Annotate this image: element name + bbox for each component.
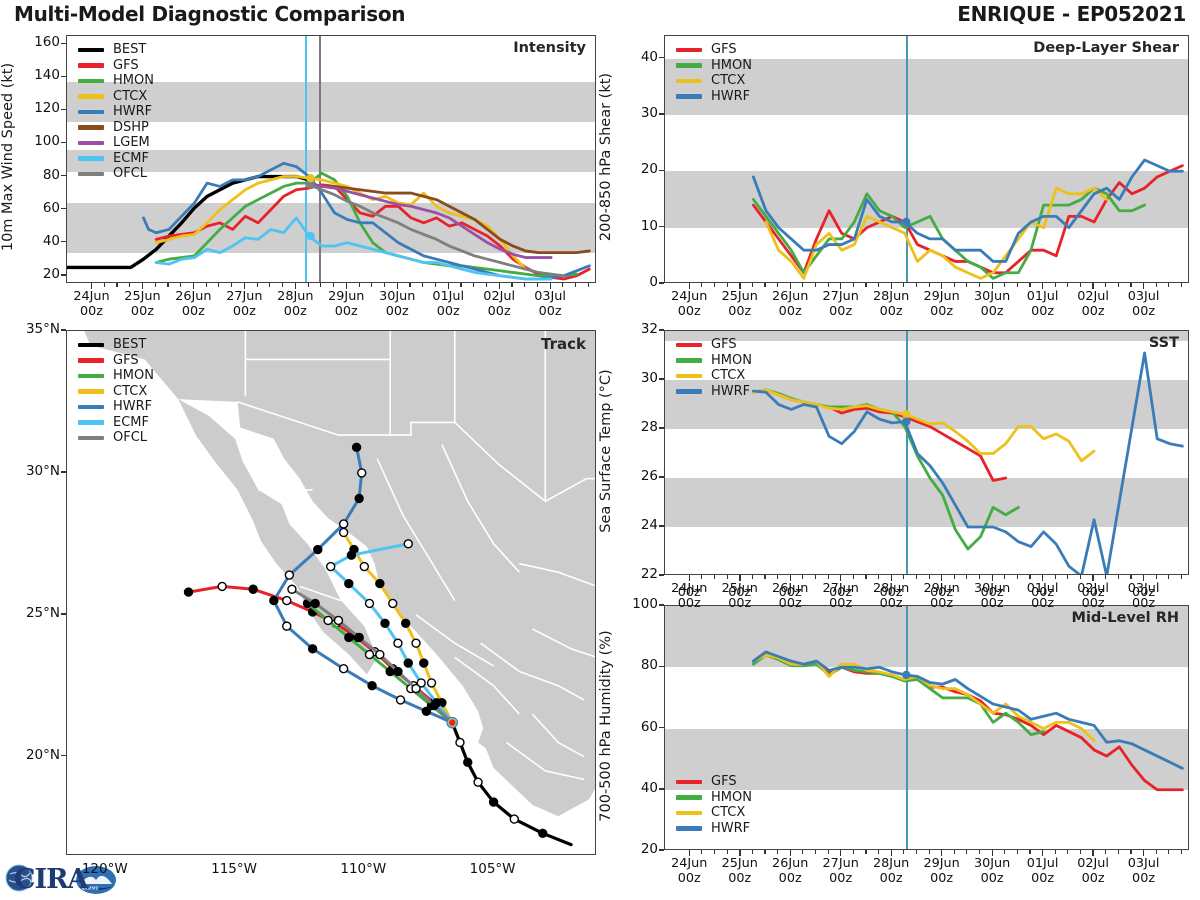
y-tick-mark <box>659 525 664 526</box>
x-tick-mark <box>142 283 143 289</box>
y-tick-label: 30 <box>612 370 658 386</box>
legend-swatch-best-icon <box>78 343 104 348</box>
legend-track: BESTGFSHMONCTCXHWRFECMFOFCL <box>78 337 154 446</box>
legend-item-hmon: HMON <box>78 73 154 89</box>
legend-swatch-hmon-icon <box>676 795 702 800</box>
legend-swatch-ecmf-icon <box>78 420 104 425</box>
panel-title-sst: SST <box>969 335 1179 351</box>
legend-label: BEST <box>113 338 146 351</box>
y-tick-label: 20 <box>14 266 60 282</box>
x-tick-mark <box>739 283 740 289</box>
track-position-marker <box>474 778 482 786</box>
legend-swatch-ctcx-icon <box>78 389 104 394</box>
x-minor-tick <box>1029 575 1030 579</box>
track-position-marker <box>394 668 402 676</box>
x-tick-hour: 00z <box>131 304 154 319</box>
legend-label: CTCX <box>113 90 147 103</box>
x-tick-hour: 00z <box>437 304 460 319</box>
legend-item-best: BEST <box>78 337 154 353</box>
analysis-marker-ctcx <box>902 410 910 418</box>
lat-tick-label: 20°N <box>4 747 60 763</box>
legend-rh: GFSHMONCTCXHWRF <box>676 774 752 836</box>
series-line-hwrf <box>753 652 1182 768</box>
x-tick-date: 01Jul <box>1027 289 1059 304</box>
x-minor-tick <box>929 575 930 579</box>
legend-label: HMON <box>711 59 752 72</box>
x-tick-hour: 00z <box>1082 871 1105 886</box>
x-minor-tick <box>979 283 980 287</box>
x-tick-mark <box>790 850 791 856</box>
track-position-marker <box>490 798 498 806</box>
track-position-marker <box>353 443 361 451</box>
legend-swatch-ofcl-icon <box>78 436 104 441</box>
legend-swatch-hwrf-icon <box>78 405 104 410</box>
track-position-marker <box>389 599 397 607</box>
track-position-marker <box>340 520 348 528</box>
y-tick-mark <box>61 43 66 44</box>
x-tick-hour: 00z <box>284 304 307 319</box>
x-minor-tick <box>929 850 930 854</box>
x-tick-mark <box>1092 575 1093 581</box>
x-tick-mark <box>891 283 892 289</box>
y-tick-label: 32 <box>612 321 658 337</box>
y-tick-label: 28 <box>612 419 658 435</box>
x-tick-mark <box>193 283 194 289</box>
x-minor-tick <box>1118 283 1119 287</box>
x-tick-hour: 00z <box>829 871 852 886</box>
x-tick-mark <box>840 283 841 289</box>
x-tick-hour: 00z <box>728 304 751 319</box>
x-minor-tick <box>1017 283 1018 287</box>
x-minor-tick <box>878 575 879 579</box>
x-minor-tick <box>1118 575 1119 579</box>
x-tick-mark <box>891 575 892 581</box>
x-tick-date: 26Jun <box>175 289 211 304</box>
series-line-gfs <box>753 652 1182 790</box>
x-minor-tick <box>1168 850 1169 854</box>
x-minor-tick <box>727 575 728 579</box>
track-position-marker <box>360 563 368 571</box>
x-tick-mark <box>840 575 841 581</box>
legend-item-hwrf: HWRF <box>78 399 154 415</box>
x-minor-tick <box>1055 575 1056 579</box>
x-minor-tick <box>1181 850 1182 854</box>
track-position-marker <box>464 758 472 766</box>
x-minor-tick <box>511 283 512 287</box>
legend-item-ctcx: CTCX <box>78 384 154 400</box>
legend-item-dshp: DSHP <box>78 120 154 136</box>
x-minor-tick <box>777 283 778 287</box>
x-minor-tick <box>903 575 904 579</box>
legend-item-lgem: LGEM <box>78 135 154 151</box>
x-minor-tick <box>764 575 765 579</box>
series-line-best <box>67 177 309 268</box>
x-tick-date: 27Jun <box>823 289 859 304</box>
x-tick-date: 01Jul <box>1027 856 1059 871</box>
x-minor-tick <box>865 283 866 287</box>
legend-swatch-hwrf-icon <box>676 389 702 394</box>
x-minor-tick <box>1017 850 1018 854</box>
y-tick-mark <box>61 142 66 143</box>
x-tick-hour: 00z <box>335 304 358 319</box>
x-minor-tick <box>727 283 728 287</box>
x-minor-tick <box>588 283 589 287</box>
legend-swatch-ofcl-icon <box>78 172 104 177</box>
x-minor-tick <box>1067 850 1068 854</box>
track-position-marker <box>412 639 420 647</box>
x-minor-tick <box>815 575 816 579</box>
series-line-gfs <box>753 166 1182 273</box>
x-tick-date: 26Jun <box>772 856 808 871</box>
y-tick-mark <box>659 849 664 850</box>
legend-swatch-hmon-icon <box>676 63 702 68</box>
x-minor-tick <box>116 283 117 287</box>
x-tick-mark <box>941 283 942 289</box>
x-tick-date: 29Jun <box>924 289 960 304</box>
y-tick-label: 0 <box>612 274 658 290</box>
x-minor-tick <box>815 283 816 287</box>
x-minor-tick <box>777 850 778 854</box>
legend-label: CTCX <box>711 74 745 87</box>
legend-label: HWRF <box>711 385 750 398</box>
x-tick-hour: 00z <box>182 304 205 319</box>
legend-label: ECMF <box>113 152 149 165</box>
x-tick-mark <box>992 575 993 581</box>
legend-label: HMON <box>113 369 154 382</box>
x-minor-tick <box>929 283 930 287</box>
legend-swatch-hwrf-icon <box>676 826 702 831</box>
x-tick-date: 03Jul <box>1128 856 1160 871</box>
x-tick-date: 30Jun <box>974 289 1010 304</box>
legend-swatch-lgem-icon <box>78 141 104 146</box>
legend-item-ctcx: CTCX <box>676 73 752 89</box>
lon-tick-label: 110°W <box>328 862 398 878</box>
legend-sst: GFSHMONCTCXHWRF <box>676 337 752 399</box>
track-position-marker <box>402 619 410 627</box>
legend-shear: GFSHMONCTCXHWRF <box>676 42 752 104</box>
x-minor-tick <box>1181 575 1182 579</box>
legend-label: HWRF <box>711 90 750 103</box>
legend-item-hmon: HMON <box>78 368 154 384</box>
legend-swatch-ctcx-icon <box>78 94 104 99</box>
y-tick-label: 100 <box>14 133 60 149</box>
legend-item-ofcl: OFCL <box>78 430 154 446</box>
y-tick-label: 40 <box>612 780 658 796</box>
legend-swatch-hmon-icon <box>78 79 104 84</box>
track-position-marker <box>456 738 464 746</box>
x-tick-date: 24Jun <box>671 289 707 304</box>
y-tick-label: 26 <box>612 468 658 484</box>
figure-root: Multi-Model Diagnostic Comparison ENRIQU… <box>0 0 1200 900</box>
track-position-marker <box>309 645 317 653</box>
x-minor-tick <box>1004 850 1005 854</box>
x-tick-date: 03Jul <box>534 289 566 304</box>
x-minor-tick <box>752 850 753 854</box>
x-minor-tick <box>828 575 829 579</box>
y-tick-mark <box>659 113 664 114</box>
legend-item-gfs: GFS <box>676 337 752 353</box>
x-tick-mark <box>346 283 347 289</box>
x-minor-tick <box>764 850 765 854</box>
x-tick-mark <box>1042 575 1043 581</box>
x-tick-date: 30Jun <box>379 289 415 304</box>
legend-swatch-dshp-icon <box>78 125 104 130</box>
x-minor-tick <box>1130 850 1131 854</box>
x-tick-date: 02Jul <box>1077 856 1109 871</box>
legend-item-gfs: GFS <box>676 774 752 790</box>
track-position-marker <box>347 551 355 559</box>
track-position-marker <box>218 582 226 590</box>
y-tick-mark <box>61 109 66 110</box>
legend-label: HWRF <box>113 400 152 413</box>
x-minor-tick <box>1156 850 1157 854</box>
current-position-gfs <box>449 719 455 725</box>
x-minor-tick <box>104 283 105 287</box>
legend-label: HWRF <box>113 105 152 118</box>
x-minor-tick <box>1004 575 1005 579</box>
x-minor-tick <box>524 283 525 287</box>
legend-label: OFCL <box>113 167 147 180</box>
y-tick-mark <box>659 476 664 477</box>
legend-item-ofcl: OFCL <box>78 166 154 182</box>
legend-label: GFS <box>711 775 737 788</box>
x-tick-hour: 00z <box>930 871 953 886</box>
x-minor-tick <box>1168 575 1169 579</box>
y-tick-mark <box>61 208 66 209</box>
x-minor-tick <box>966 850 967 854</box>
analysis-marker-hwrf <box>902 417 910 425</box>
legend-swatch-ctcx-icon <box>676 811 702 816</box>
lat-tick-mark <box>61 471 66 472</box>
legend-label: HMON <box>711 791 752 804</box>
x-tick-mark <box>941 850 942 856</box>
x-minor-tick <box>1029 850 1030 854</box>
y-tick-mark <box>61 241 66 242</box>
y-tick-label: 22 <box>612 566 658 582</box>
legend-label: CTCX <box>711 369 745 382</box>
x-tick-label: 03Jul00z <box>518 289 582 319</box>
legend-label: GFS <box>113 59 139 72</box>
x-tick-hour: 00z <box>488 304 511 319</box>
legend-item-gfs: GFS <box>78 353 154 369</box>
x-minor-tick <box>460 283 461 287</box>
legend-label: ECMF <box>113 416 149 429</box>
legend-item-hwrf: HWRF <box>676 821 752 837</box>
x-tick-date: 02Jul <box>1077 289 1109 304</box>
legend-label: CTCX <box>113 385 147 398</box>
page-title-right: ENRIQUE - EP052021 <box>957 2 1186 26</box>
x-minor-tick <box>865 850 866 854</box>
legend-item-ctcx: CTCX <box>78 89 154 105</box>
x-minor-tick <box>1029 283 1030 287</box>
x-minor-tick <box>1105 283 1106 287</box>
x-minor-tick <box>1156 575 1157 579</box>
track-position-marker <box>340 665 348 673</box>
x-tick-date: 02Jul <box>483 289 515 304</box>
x-tick-date: 03Jul <box>1128 289 1160 304</box>
y-tick-mark <box>659 226 664 227</box>
x-tick-mark <box>550 283 551 289</box>
track-position-marker <box>311 599 319 607</box>
x-minor-tick <box>916 575 917 579</box>
track-position-marker <box>430 702 438 710</box>
axis-label-shear-y: 200-850 hPa Shear (kt) <box>598 37 614 277</box>
y-tick-label: 20 <box>612 161 658 177</box>
y-tick-mark <box>659 666 664 667</box>
panel-title-track: Track <box>376 335 586 353</box>
x-tick-mark <box>941 575 942 581</box>
axis-label-sst-y: Sea Surface Temp (°C) <box>598 331 614 571</box>
track-position-marker <box>327 563 335 571</box>
x-minor-tick <box>979 850 980 854</box>
x-tick-hour: 00z <box>779 871 802 886</box>
x-minor-tick <box>486 283 487 287</box>
x-minor-tick <box>575 283 576 287</box>
x-tick-hour: 00z <box>233 304 256 319</box>
track-position-marker <box>283 597 291 605</box>
x-minor-tick <box>320 283 321 287</box>
x-tick-mark <box>1042 283 1043 289</box>
x-minor-tick <box>1080 850 1081 854</box>
legend-swatch-gfs-icon <box>676 780 702 785</box>
x-minor-tick <box>714 283 715 287</box>
x-minor-tick <box>1067 575 1068 579</box>
lon-tick-label: 115°W <box>199 862 269 878</box>
x-tick-date: 25Jun <box>124 289 160 304</box>
series-line-hmon <box>753 188 1144 278</box>
y-tick-label: 30 <box>612 105 658 121</box>
track-position-marker <box>285 571 293 579</box>
legend-swatch-ecmf-icon <box>78 156 104 161</box>
legend-label: CTCX <box>711 806 745 819</box>
legend-label: HMON <box>113 74 154 87</box>
x-tick-date: 29Jun <box>328 289 364 304</box>
page-title-left: Multi-Model Diagnostic Comparison <box>14 2 405 26</box>
x-minor-tick <box>966 283 967 287</box>
y-tick-mark <box>61 175 66 176</box>
track-position-marker <box>365 651 373 659</box>
x-minor-tick <box>1130 283 1131 287</box>
x-minor-tick <box>878 850 879 854</box>
x-minor-tick <box>1080 283 1081 287</box>
x-tick-mark <box>397 283 398 289</box>
track-position-marker <box>376 651 384 659</box>
y-tick-label: 60 <box>612 719 658 735</box>
x-minor-tick <box>1156 283 1157 287</box>
x-minor-tick <box>764 283 765 287</box>
x-minor-tick <box>1105 850 1106 854</box>
x-tick-hour: 00z <box>539 304 562 319</box>
x-tick-mark <box>499 283 500 289</box>
x-minor-tick <box>231 283 232 287</box>
x-tick-hour: 00z <box>1031 871 1054 886</box>
x-minor-tick <box>562 283 563 287</box>
track-position-marker <box>412 685 420 693</box>
legend-swatch-hwrf-icon <box>78 110 104 115</box>
x-tick-hour: 00z <box>1132 871 1155 886</box>
x-tick-label: 03Jul00z <box>1112 856 1176 886</box>
legend-item-ecmf: ECMF <box>78 415 154 431</box>
track-position-marker <box>324 616 332 624</box>
x-tick-mark <box>1143 850 1144 856</box>
x-minor-tick <box>308 283 309 287</box>
track-position-marker <box>420 659 428 667</box>
x-minor-tick <box>714 850 715 854</box>
x-tick-mark <box>689 575 690 581</box>
x-tick-mark <box>1042 850 1043 856</box>
y-tick-label: 80 <box>14 167 60 183</box>
y-tick-mark <box>61 274 66 275</box>
track-position-marker <box>381 619 389 627</box>
x-tick-mark <box>689 283 690 289</box>
x-minor-tick <box>206 283 207 287</box>
y-tick-mark <box>659 574 664 575</box>
legend-item-hwrf: HWRF <box>78 104 154 120</box>
x-minor-tick <box>752 575 753 579</box>
x-minor-tick <box>282 283 283 287</box>
lat-tick-label: 35°N <box>4 321 60 337</box>
lat-tick-mark <box>61 329 66 330</box>
x-minor-tick <box>359 283 360 287</box>
x-minor-tick <box>701 575 702 579</box>
lat-tick-label: 25°N <box>4 605 60 621</box>
x-minor-tick <box>916 850 917 854</box>
x-tick-date: 24Jun <box>671 856 707 871</box>
x-minor-tick <box>802 283 803 287</box>
legend-swatch-hwrf-icon <box>676 94 702 99</box>
x-minor-tick <box>1055 283 1056 287</box>
x-minor-tick <box>903 850 904 854</box>
x-tick-hour: 00z <box>829 304 852 319</box>
track-position-marker <box>345 633 353 641</box>
lon-tick-label: 105°W <box>458 862 528 878</box>
x-minor-tick <box>409 283 410 287</box>
legend-label: GFS <box>113 354 139 367</box>
legend-item-ctcx: CTCX <box>676 805 752 821</box>
x-tick-hour: 00z <box>981 304 1004 319</box>
legend-swatch-gfs-icon <box>78 358 104 363</box>
lat-tick-mark <box>61 755 66 756</box>
legend-item-ecmf: ECMF <box>78 151 154 167</box>
x-tick-mark <box>840 850 841 856</box>
lat-tick-label: 30°N <box>4 463 60 479</box>
legend-label: HMON <box>711 354 752 367</box>
x-minor-tick <box>1168 283 1169 287</box>
y-tick-label: 120 <box>14 100 60 116</box>
x-minor-tick <box>384 283 385 287</box>
legend-swatch-hmon-icon <box>78 374 104 379</box>
x-minor-tick <box>1105 575 1106 579</box>
legend-item-hwrf: HWRF <box>676 89 752 105</box>
track-position-marker <box>288 585 296 593</box>
track-position-marker <box>539 829 547 837</box>
x-tick-hour: 00z <box>1132 304 1155 319</box>
x-minor-tick <box>167 283 168 287</box>
track-position-marker <box>185 588 193 596</box>
x-minor-tick <box>903 283 904 287</box>
x-minor-tick <box>815 850 816 854</box>
x-minor-tick <box>701 283 702 287</box>
x-tick-mark <box>689 850 690 856</box>
y-tick-label: 24 <box>612 517 658 533</box>
track-position-marker <box>355 633 363 641</box>
x-minor-tick <box>853 850 854 854</box>
x-minor-tick <box>979 575 980 579</box>
track-position-marker <box>314 546 322 554</box>
track-position-marker <box>270 597 278 605</box>
panel-title-shear: Deep-Layer Shear <box>969 40 1179 56</box>
x-tick-mark <box>891 850 892 856</box>
